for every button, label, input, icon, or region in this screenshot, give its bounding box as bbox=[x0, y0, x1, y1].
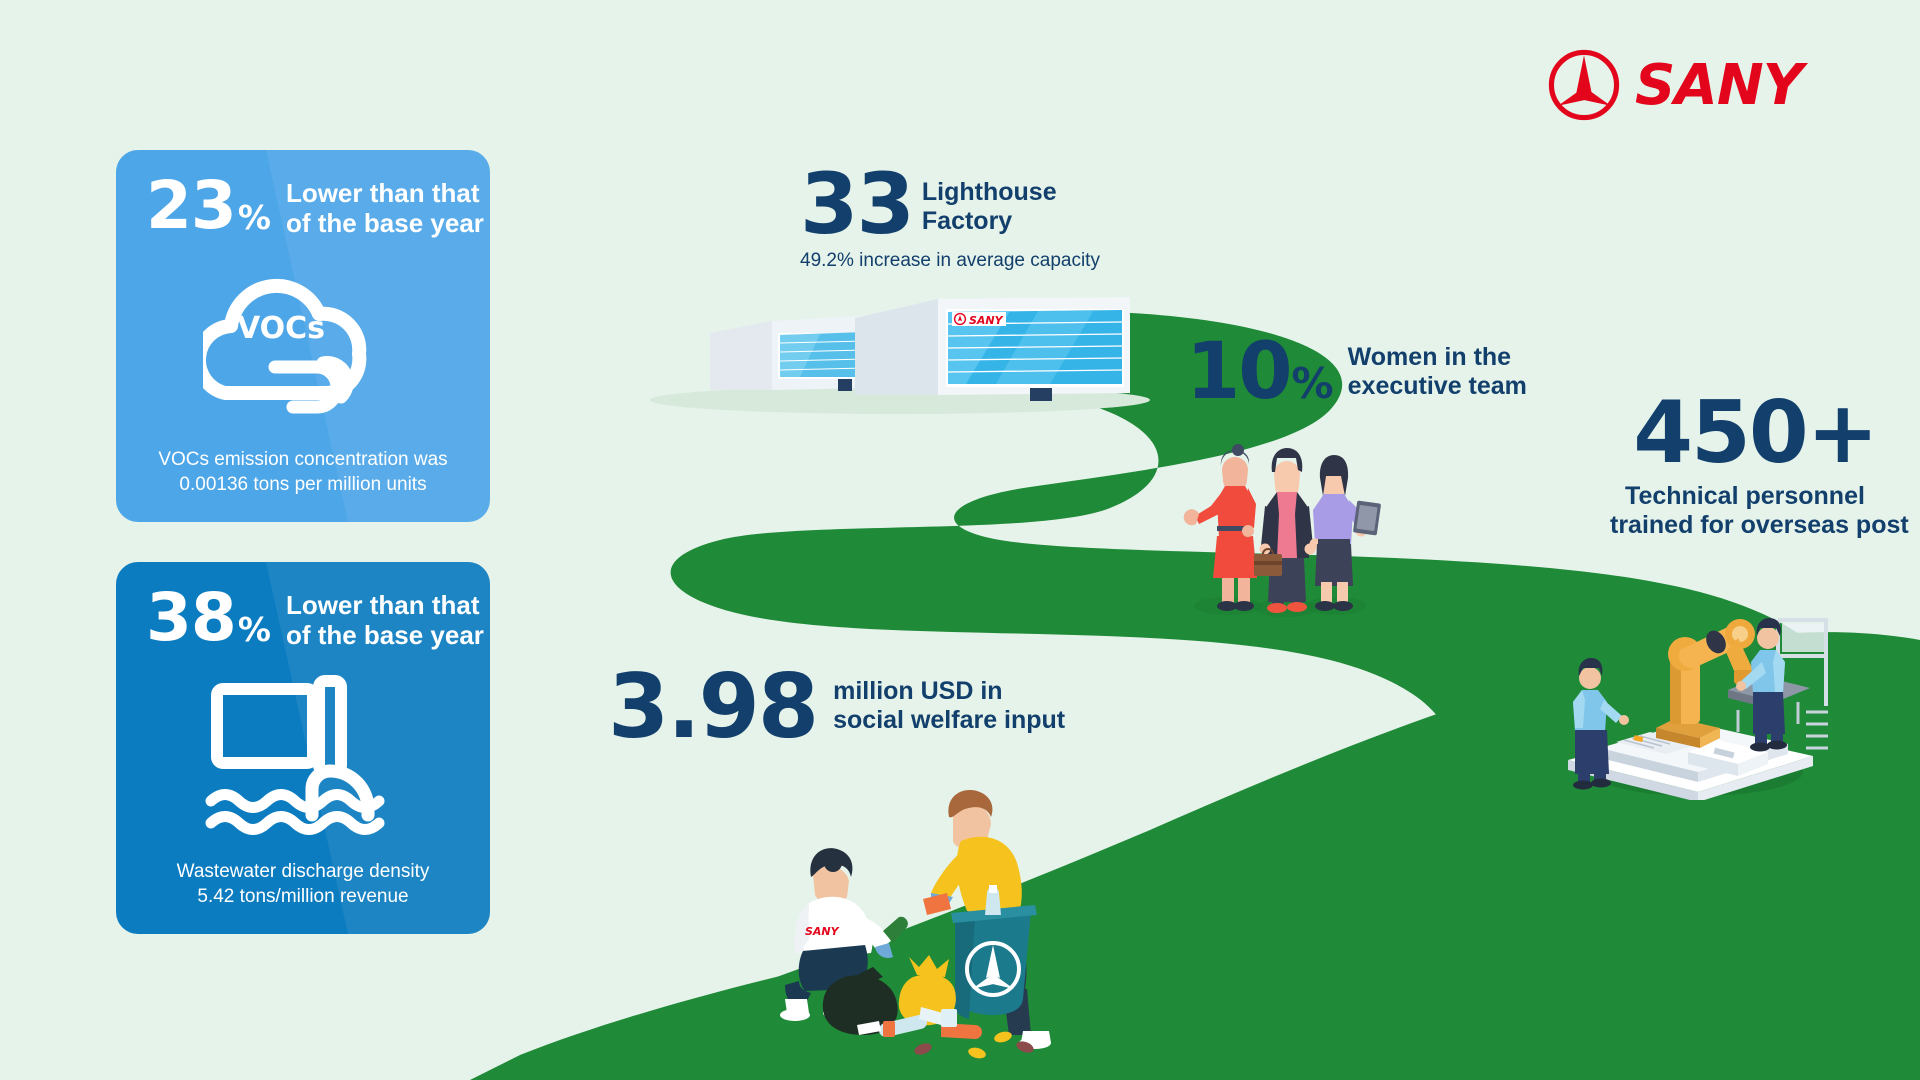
card-wastewater-footer-line1: Wastewater discharge density bbox=[177, 859, 430, 885]
vocs-icon-text: VOCs bbox=[237, 311, 325, 346]
card-vocs-icon-wrap: VOCs bbox=[116, 239, 490, 447]
stat-welfare-label-line2: social welfare input bbox=[833, 706, 1065, 735]
stat-welfare-label-line1: million USD in bbox=[833, 677, 1065, 706]
card-wastewater-number: 38 bbox=[146, 588, 236, 647]
stat-women-number-wrap: 10% bbox=[1186, 338, 1332, 407]
wastewater-pipe-icon bbox=[203, 675, 403, 835]
stat-lighthouse-sub: 49.2% increase in average capacity bbox=[800, 250, 1100, 272]
volunteer-shirt-text: SANY bbox=[805, 925, 840, 938]
card-vocs-stat: 23% Lower than that of the base year bbox=[116, 176, 490, 239]
sany-tri-blade-logo-icon bbox=[1547, 48, 1621, 122]
card-wastewater-footer-line2: 5.42 tons/million revenue bbox=[177, 884, 430, 910]
stat-women-executive: 10% Women in the executive team bbox=[1186, 338, 1527, 407]
card-vocs-footer: VOCs emission concentration was 0.00136 … bbox=[140, 447, 465, 522]
businesswoman-purple bbox=[1310, 455, 1382, 611]
card-wastewater-icon-wrap bbox=[116, 651, 490, 859]
card-wastewater-label: Lower than that of the base year bbox=[286, 591, 484, 651]
card-wastewater: 38% Lower than that of the base year bbox=[116, 562, 490, 934]
card-vocs-value: 23% bbox=[146, 176, 270, 235]
card-wastewater-label-line2: of the base year bbox=[286, 621, 484, 651]
infographic-canvas: SANY 23% Lower than that of the base yea… bbox=[0, 0, 1920, 1080]
svg-text:SANY: SANY bbox=[1635, 57, 1809, 113]
stat-technical-label-line1: Technical personnel bbox=[1610, 482, 1880, 511]
vocs-cloud-icon: VOCs bbox=[203, 263, 403, 423]
stat-technical-number: 450+ bbox=[1620, 396, 1890, 472]
volunteers-cleanup-illustration: SANY bbox=[745, 785, 1065, 1080]
stat-lighthouse-number: 33 bbox=[800, 168, 913, 242]
card-vocs-label-line1: Lower than that bbox=[286, 179, 484, 209]
factory-sign-text: SANY bbox=[969, 314, 1004, 327]
three-businesswomen-illustration bbox=[1178, 430, 1390, 620]
stat-social-welfare: 3.98 million USD in social welfare input bbox=[608, 668, 1065, 745]
businesswoman-black-jacket bbox=[1254, 448, 1316, 613]
card-vocs-label: Lower than that of the base year bbox=[286, 179, 484, 239]
sany-factory-illustration: SANY bbox=[700, 285, 1140, 410]
stat-lighthouse-label: Lighthouse Factory bbox=[922, 178, 1057, 236]
card-wastewater-stat: 38% Lower than that of the base year bbox=[116, 588, 490, 651]
stat-women-label: Women in the executive team bbox=[1348, 343, 1527, 401]
factory-sany-sign: SANY bbox=[952, 312, 1006, 327]
industrial-robot-arm-illustration bbox=[1538, 580, 1838, 800]
stat-women-number: 10 bbox=[1186, 338, 1291, 407]
stat-women-label-line1: Women in the bbox=[1348, 343, 1527, 372]
sany-logo: SANY bbox=[1547, 48, 1870, 122]
card-vocs-symbol: % bbox=[238, 203, 270, 233]
businesswoman-red bbox=[1184, 444, 1257, 611]
card-vocs-label-line2: of the base year bbox=[286, 209, 484, 239]
card-wastewater-footer: Wastewater discharge density 5.42 tons/m… bbox=[159, 859, 448, 934]
stat-technical-label-line2: trained for overseas post bbox=[1610, 511, 1880, 540]
card-vocs-footer-line1: VOCs emission concentration was bbox=[158, 447, 447, 473]
stat-women-symbol: % bbox=[1292, 366, 1332, 403]
stat-women-label-line2: executive team bbox=[1348, 372, 1527, 401]
card-vocs: 23% Lower than that of the base year VOC… bbox=[116, 150, 490, 522]
card-wastewater-symbol: % bbox=[238, 615, 270, 645]
card-vocs-number: 23 bbox=[146, 176, 236, 235]
stat-lighthouse-factory: 33 Lighthouse Factory 49.2% increase in … bbox=[800, 168, 1100, 272]
stat-technical-label: Technical personnel trained for overseas… bbox=[1610, 482, 1880, 540]
card-vocs-footer-line2: 0.00136 tons per million units bbox=[158, 472, 447, 498]
stat-lighthouse-label-line1: Lighthouse bbox=[922, 178, 1057, 207]
card-wastewater-label-line1: Lower than that bbox=[286, 591, 484, 621]
card-wastewater-value: 38% bbox=[146, 588, 270, 647]
stat-technical-personnel: 450+ Technical personnel trained for ove… bbox=[1620, 396, 1890, 540]
stat-welfare-number: 3.98 bbox=[608, 668, 817, 745]
sany-wordmark: SANY bbox=[1635, 57, 1870, 113]
stat-lighthouse-label-line2: Factory bbox=[922, 207, 1057, 236]
stat-welfare-label: million USD in social welfare input bbox=[833, 677, 1065, 735]
